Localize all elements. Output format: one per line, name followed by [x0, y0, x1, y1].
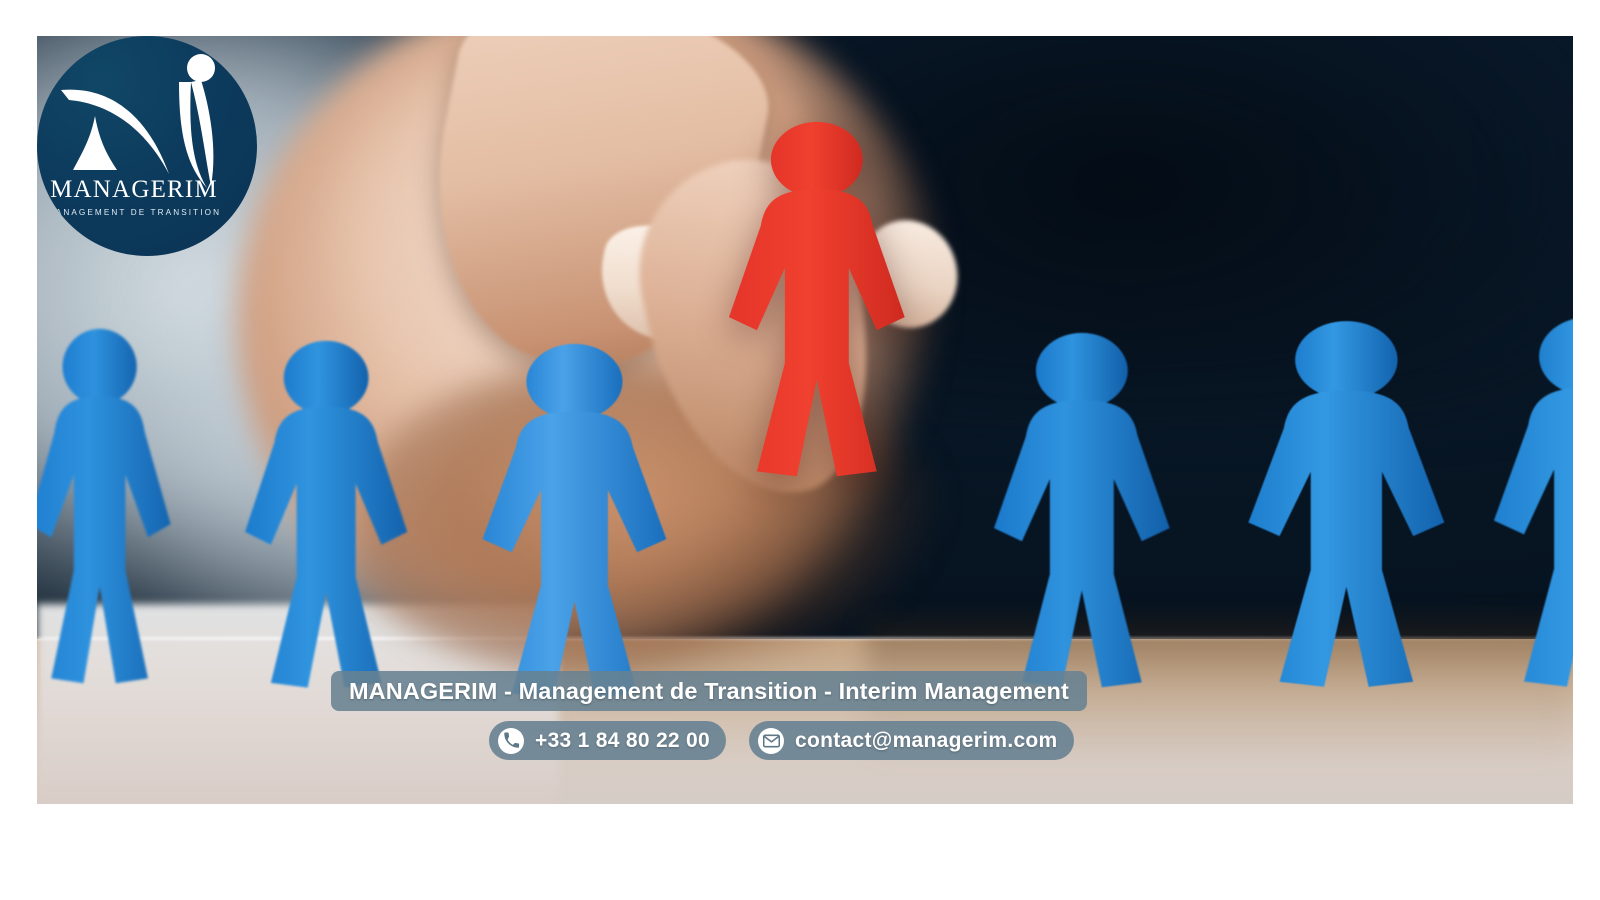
email-pill[interactable]: contact@managerim.com: [749, 721, 1074, 760]
table-edge-highlight: [37, 637, 1573, 640]
envelope-icon: [758, 728, 784, 754]
logo-name: MANAGERIM: [37, 176, 257, 204]
caption-banner: MANAGERIM - Management de Transition - I…: [331, 671, 1087, 711]
logo-tagline: MANAGEMENT DE TRANSITION: [37, 208, 257, 217]
email-label: contact@managerim.com: [795, 729, 1058, 753]
page-root: MANAGERIM MANAGEMENT DE TRANSITION MANAG…: [0, 0, 1600, 900]
hero-background-shadow: [621, 36, 1573, 405]
phone-icon: [498, 728, 524, 754]
brand-logo[interactable]: MANAGERIM MANAGEMENT DE TRANSITION: [37, 36, 257, 256]
logo-mark-icon: [51, 52, 243, 192]
table-surface-shadow: [866, 620, 1573, 804]
contact-row: +33 1 84 80 22 00 contact@managerim.com: [489, 721, 1074, 760]
caption-text: MANAGERIM - Management de Transition - I…: [349, 678, 1069, 705]
phone-pill[interactable]: +33 1 84 80 22 00: [489, 721, 726, 760]
phone-label: +33 1 84 80 22 00: [535, 729, 710, 753]
